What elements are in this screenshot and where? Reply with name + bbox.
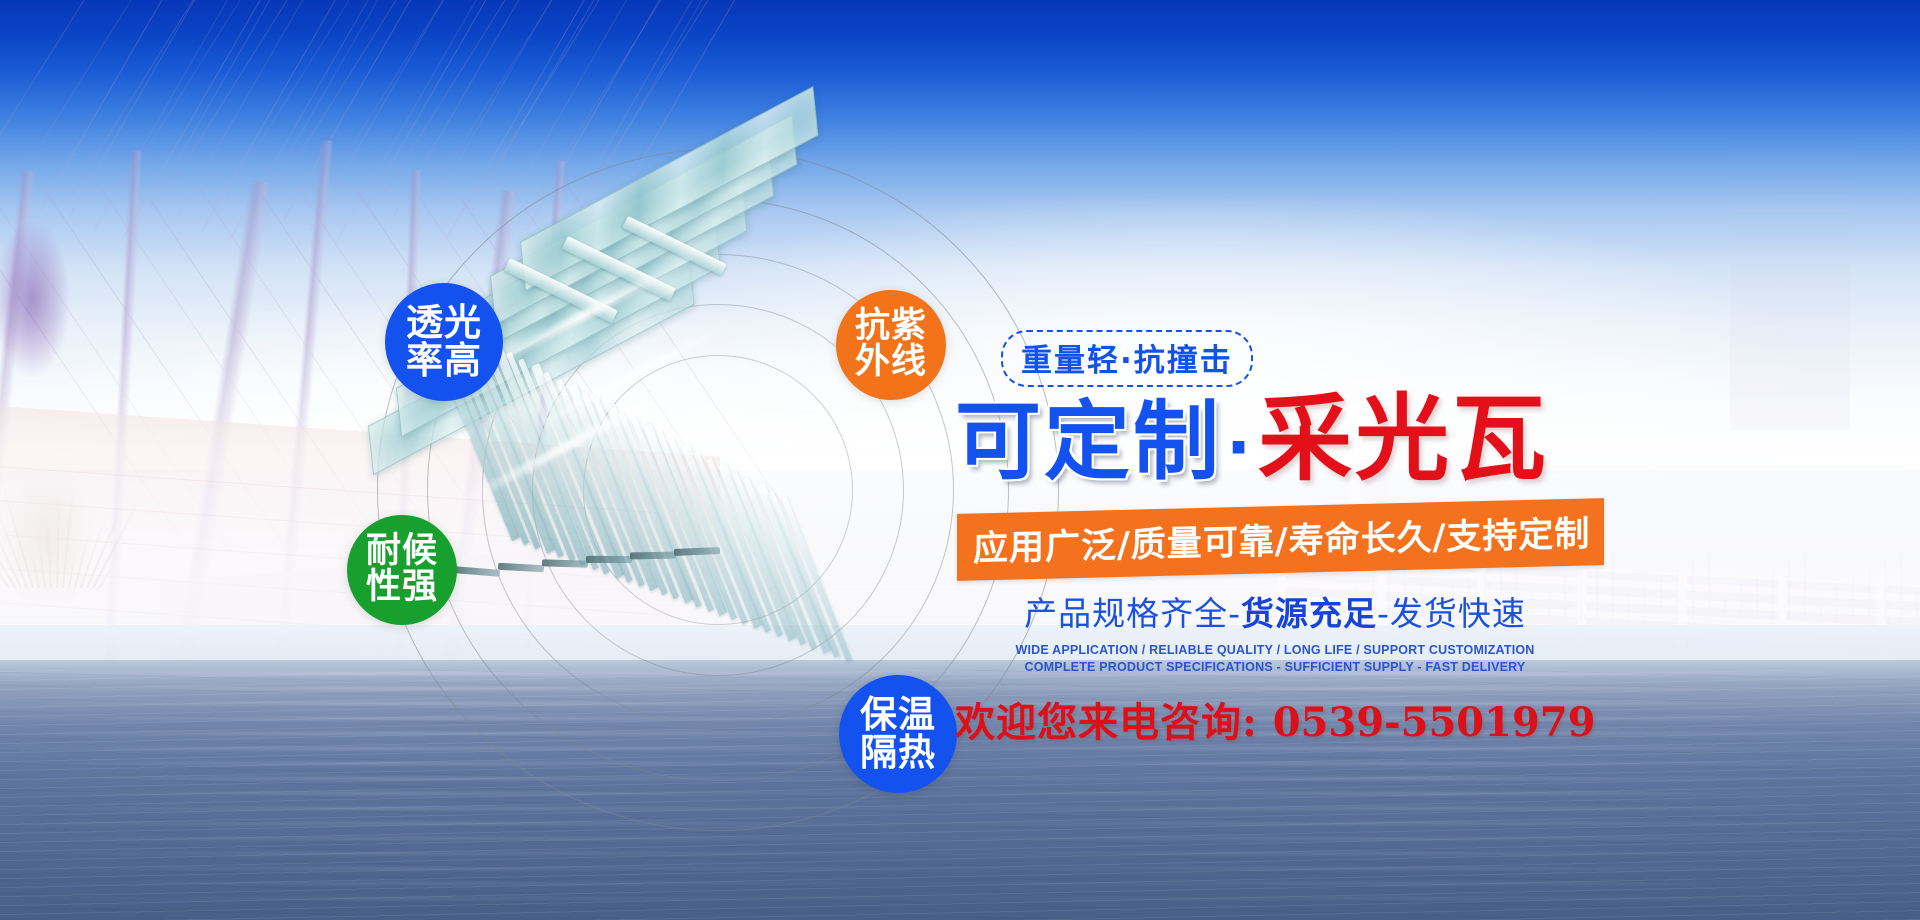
badge-anti-uv: 抗紫外线	[836, 290, 946, 400]
wave-line	[0, 822, 1920, 825]
bridge-cable	[256, 0, 457, 211]
phone-number: 0539-5501979	[1273, 699, 1596, 746]
benefits-bar: 应用广泛/质量可靠/寿命长久/支持定制	[957, 498, 1604, 581]
headline-red-text: 采光瓦	[1258, 385, 1549, 494]
wave-line	[0, 792, 1920, 795]
wave-line	[0, 777, 1920, 780]
badge-light-transmission: 透光率高	[385, 283, 503, 401]
badge-line-1: 透光	[406, 304, 482, 342]
english-line-1: WIDE APPLICATION / RELIABLE QUALITY / LO…	[955, 643, 1595, 657]
panel-bottom-edge	[498, 563, 544, 573]
wave-line	[0, 897, 1920, 900]
badge-line-2: 率高	[406, 342, 482, 380]
subline-bold: 货源充足	[1241, 594, 1377, 633]
headline-separator-dot: ·	[1222, 409, 1258, 486]
badge-line-2: 外线	[855, 345, 927, 381]
contact-phone[interactable]: 欢迎您来电咨询: 0539-5501979	[955, 690, 1595, 748]
promo-banner: 透光率高抗紫外线耐候性强保温隔热 重量轻·抗撞击 可定制·采光瓦 应用广泛/质量…	[0, 0, 1920, 920]
panel-bottom-edge	[674, 547, 720, 556]
subline-post: -发货快速	[1377, 594, 1526, 633]
english-line-2: COMPLETE PRODUCT SPECIFICATIONS - SUFFIC…	[955, 660, 1595, 674]
badge-weather-resistant: 耐候性强	[347, 515, 457, 625]
headline: 可定制·采光瓦	[955, 391, 1655, 490]
badge-line-1: 保温	[860, 696, 936, 734]
supply-subline: 产品规格齐全-货源充足-发货快速	[955, 587, 1595, 635]
badge-thermal-insulation: 保温隔热	[839, 675, 957, 793]
panel-bottom-edge	[542, 559, 588, 567]
badge-line-2: 性强	[366, 570, 438, 606]
badge-line-2: 隔热	[860, 734, 936, 772]
panel-bottom-edge	[454, 566, 500, 577]
headline-blue-text: 可定制	[955, 392, 1222, 492]
badge-line-1: 抗紫	[855, 309, 927, 345]
marketing-copy: 重量轻·抗撞击 可定制·采光瓦 应用广泛/质量可靠/寿命长久/支持定制 产品规格…	[955, 330, 1655, 748]
phone-label: 欢迎您来电咨询:	[955, 699, 1258, 746]
wave-line	[0, 807, 1920, 810]
subline-pre: 产品规格齐全-	[1024, 594, 1241, 633]
feature-pill: 重量轻·抗撞击	[1001, 330, 1253, 387]
wave-line	[0, 852, 1920, 855]
wave-line	[0, 762, 1920, 765]
panel-bottom-edge	[586, 556, 632, 563]
wave-line	[0, 837, 1920, 840]
bridge-cable	[364, 0, 565, 211]
panel-bottom-edge	[630, 552, 676, 560]
badge-line-1: 耐候	[366, 534, 438, 570]
wave-line	[0, 867, 1920, 870]
wave-line	[0, 882, 1920, 885]
